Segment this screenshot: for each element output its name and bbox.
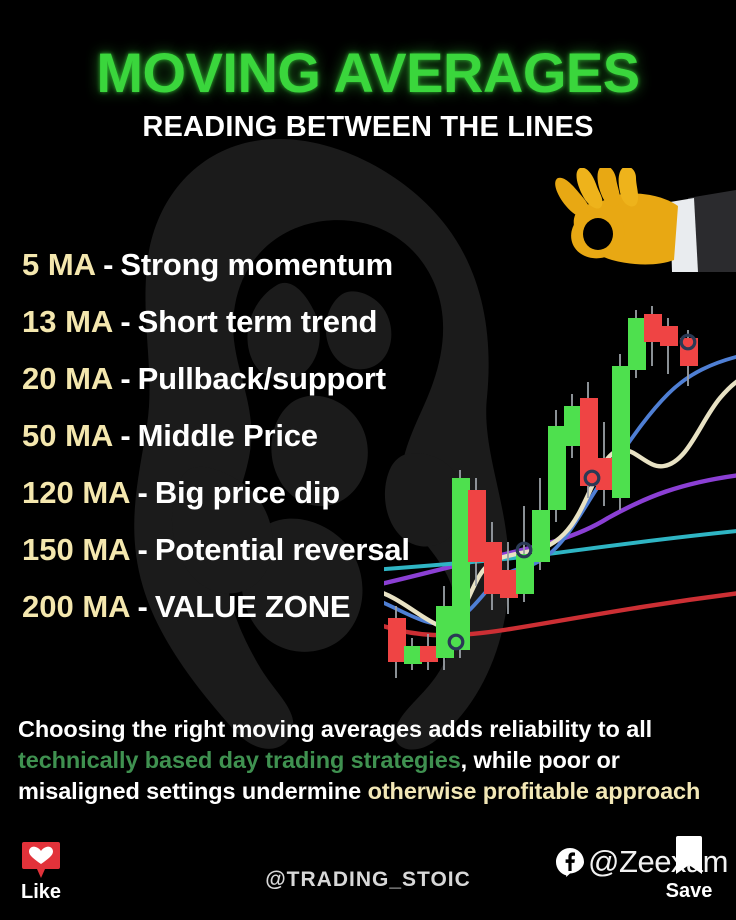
- ma-key: 120 MA: [22, 475, 131, 511]
- ma-separator: -: [113, 361, 137, 397]
- save-label: Save: [652, 880, 726, 903]
- list-item: 20 MA - Pullback/support: [22, 350, 492, 407]
- summary-paragraph: Choosing the right moving averages adds …: [18, 714, 724, 807]
- footer: Like @TRADING_STOIC @Zeexam Save: [0, 838, 736, 920]
- facebook-icon: [555, 847, 585, 877]
- ma-separator: -: [131, 589, 155, 625]
- paragraph-highlight-green: technically based day trading strategies: [18, 747, 461, 773]
- list-item: 120 MA - Big price dip: [22, 464, 492, 521]
- paragraph-highlight-cream: otherwise profitable approach: [368, 778, 701, 804]
- ma-value: Strong momentum: [120, 247, 393, 283]
- ma-key: 5 MA: [22, 247, 96, 283]
- list-item: 200 MA - VALUE ZONE: [22, 578, 492, 635]
- paragraph-part-1: Choosing the right moving averages adds …: [18, 716, 652, 742]
- moving-average-list: 5 MA - Strong momentum 13 MA - Short ter…: [22, 236, 492, 635]
- page-subtitle: READING BETWEEN THE LINES: [0, 111, 736, 144]
- ma-value: VALUE ZONE: [155, 589, 351, 625]
- save-button[interactable]: Save: [652, 834, 726, 903]
- ma-key: 13 MA: [22, 304, 113, 340]
- ma-key: 50 MA: [22, 418, 113, 454]
- ma-key: 200 MA: [22, 589, 131, 625]
- ma-separator: -: [131, 475, 155, 511]
- ma-value: Pullback/support: [138, 361, 386, 397]
- bookmark-icon: [674, 834, 704, 878]
- infographic-poster: MOVING AVERAGES READING BETWEEN THE LINE…: [0, 0, 736, 920]
- ma-separator: -: [96, 247, 120, 283]
- list-item: 150 MA - Potential reversal: [22, 521, 492, 578]
- ma-key: 20 MA: [22, 361, 113, 397]
- ma-separator: -: [113, 418, 137, 454]
- list-item: 50 MA - Middle Price: [22, 407, 492, 464]
- page-title: MOVING AVERAGES: [0, 0, 736, 101]
- ma-value: Potential reversal: [155, 532, 410, 568]
- list-item: 13 MA - Short term trend: [22, 293, 492, 350]
- ma-value: Middle Price: [138, 418, 318, 454]
- list-item: 5 MA - Strong momentum: [22, 236, 492, 293]
- ma-value: Big price dip: [155, 475, 340, 511]
- ma-key: 150 MA: [22, 532, 131, 568]
- header: MOVING AVERAGES READING BETWEEN THE LINE…: [0, 0, 736, 144]
- ok-hand-emoji: [538, 168, 736, 272]
- ma-value: Short term trend: [138, 304, 378, 340]
- ma-separator: -: [113, 304, 137, 340]
- ma-separator: -: [131, 532, 155, 568]
